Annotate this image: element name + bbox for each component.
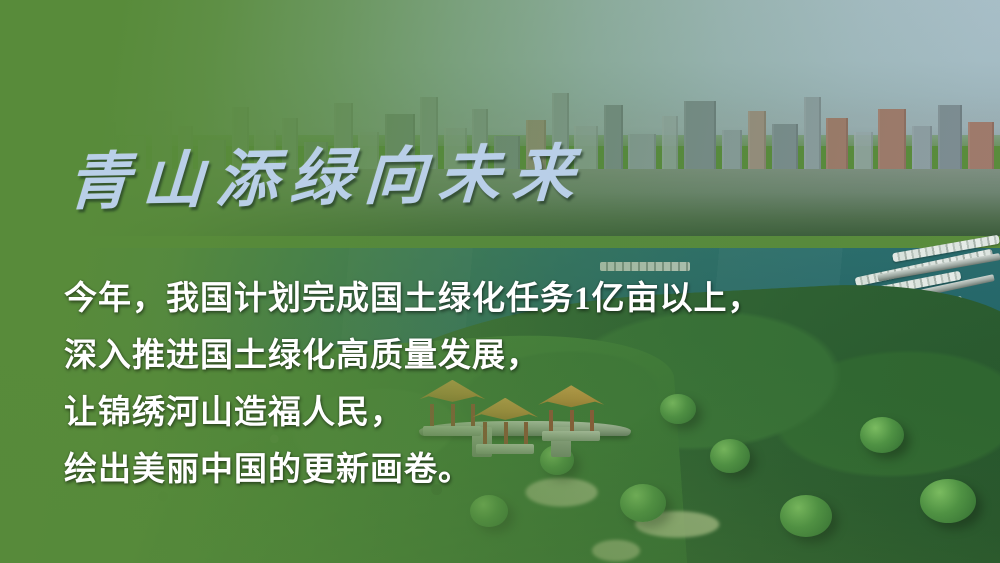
body-copy: 今年，我国计划完成国土绿化任务1亿亩以上， 深入推进国土绿化高质量发展， 让锦绣… [64,271,944,499]
body-line-2: 深入推进国土绿化高质量发展， [64,328,944,385]
body-line-4: 绘出美丽中国的更新画卷。 [64,442,944,499]
poster-canvas: 青山添绿向未来 今年，我国计划完成国土绿化任务1亿亩以上， 深入推进国土绿化高质… [0,0,1000,563]
body-line-3: 让锦绣河山造福人民， [64,385,944,442]
page-title: 青山添绿向未来 [66,143,588,214]
body-line-1: 今年，我国计划完成国土绿化任务1亿亩以上， [64,271,944,328]
